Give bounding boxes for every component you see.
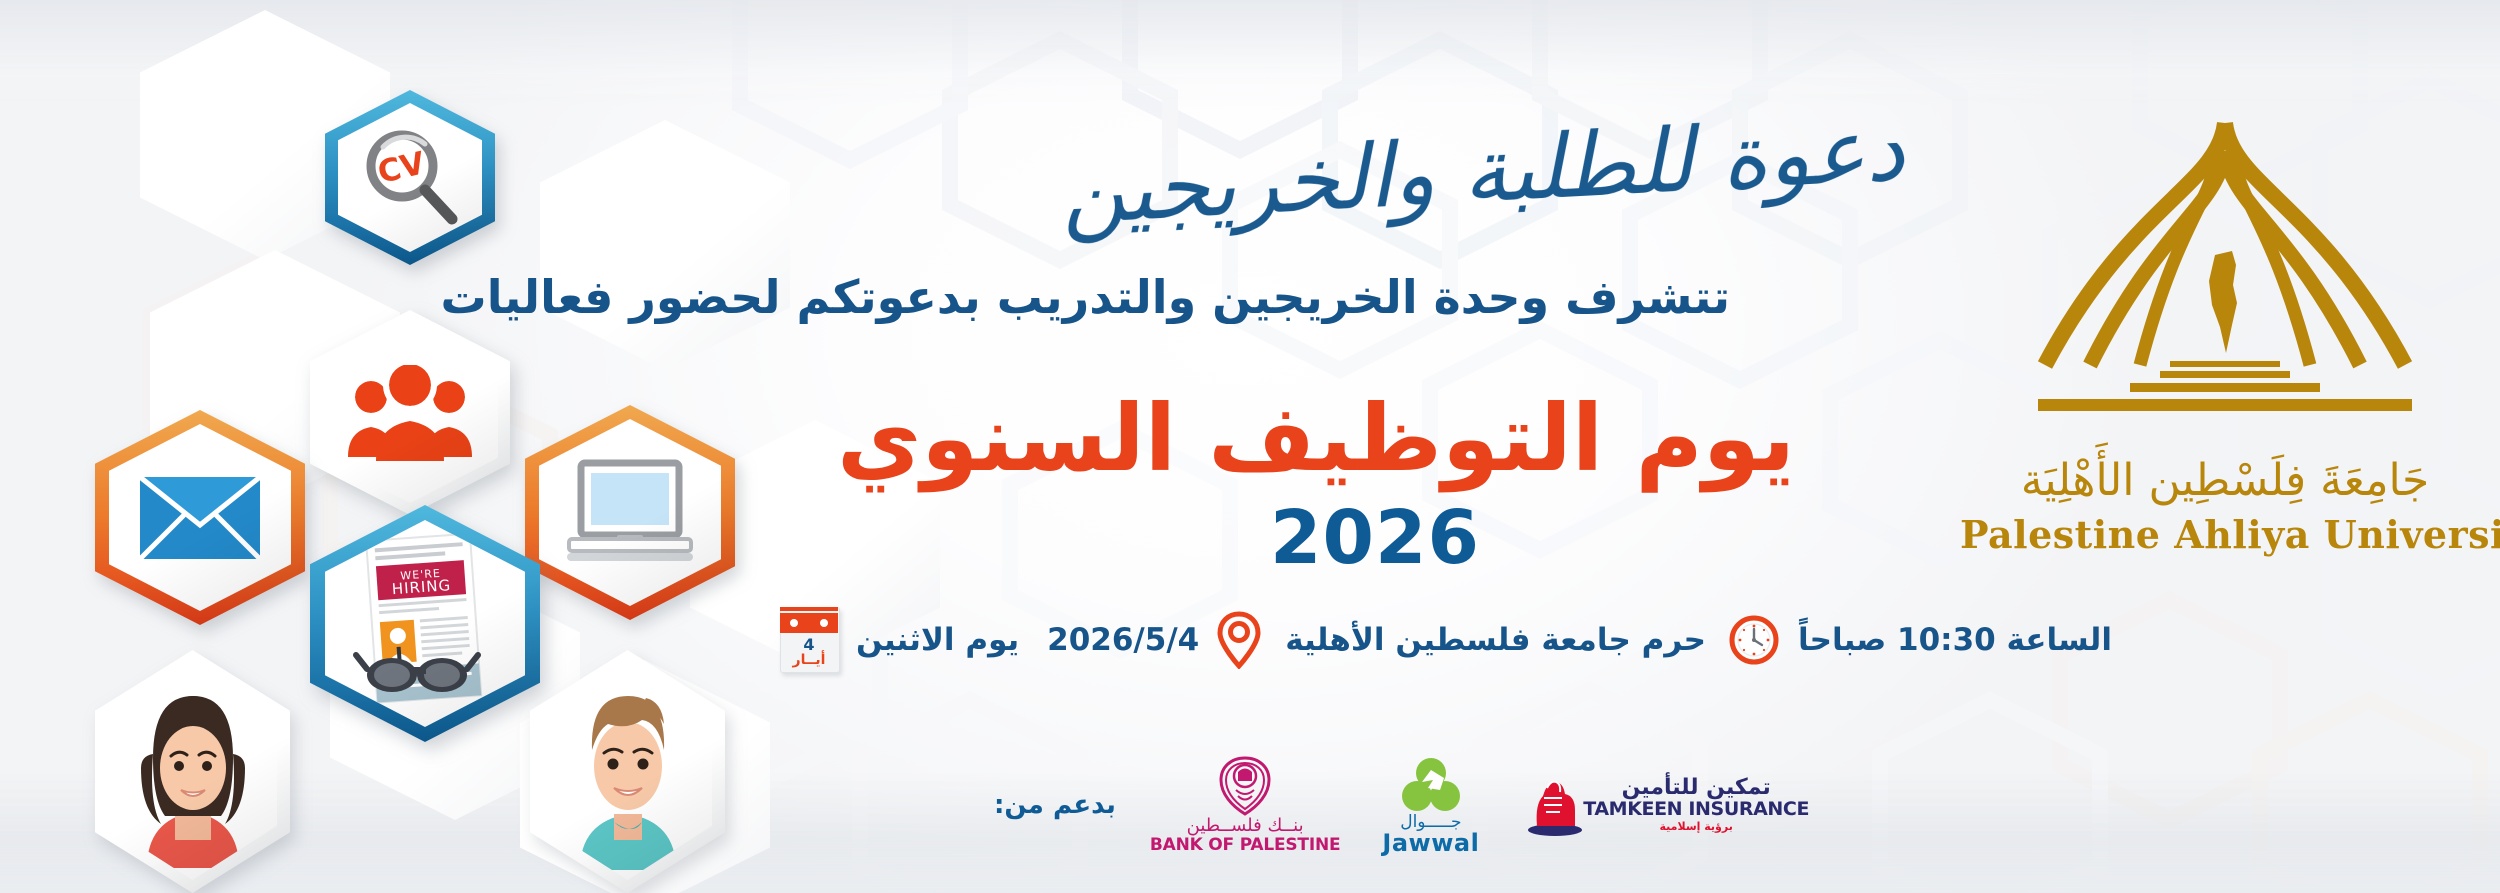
event-time: الساعة 10:30 صباحاً bbox=[1798, 622, 2112, 658]
tamkeen-english-name: TAMKEEN INSURANCE bbox=[1583, 799, 1809, 820]
hex-shading bbox=[95, 650, 290, 893]
event-year: 2026 bbox=[955, 495, 1795, 581]
calligraphy-headline: دعوة للطلبة والخريجين bbox=[1059, 105, 1907, 237]
map-pin-icon bbox=[1217, 611, 1261, 669]
calendar-month-label: أيــار bbox=[780, 652, 838, 668]
bop-arabic-name: بنــك فلســطين bbox=[1187, 816, 1304, 836]
sponsors-label: بدعم من: bbox=[994, 790, 1116, 820]
bop-crest-icon bbox=[1214, 756, 1276, 816]
hex-shading bbox=[530, 650, 725, 893]
raised-fist-icon bbox=[1527, 774, 1583, 836]
hex-laptop bbox=[525, 405, 735, 620]
event-date-value: 2026/5/4 bbox=[1047, 622, 1199, 658]
hex-avatar-woman bbox=[95, 650, 290, 893]
tamkeen-insurance-logo: تمكين للتأمين TAMKEEN INSURANCE برؤية إس… bbox=[1519, 774, 1809, 836]
tamkeen-tagline: برؤية إسلامية bbox=[1660, 820, 1733, 833]
event-date-day: يوم الاثنين bbox=[856, 622, 1019, 658]
dome-with-palestine-map-icon bbox=[2010, 115, 2440, 455]
hex-shading bbox=[325, 90, 495, 265]
calendar-icon: 4 أيــار bbox=[778, 607, 840, 673]
university-logo: جَامِعَةَ فِلَسْطِين الأَهْلِيَة Palesti… bbox=[1960, 115, 2490, 557]
employment-day-banner: CV bbox=[0, 0, 2500, 893]
clock-icon bbox=[1728, 614, 1780, 666]
jawwal-english-name: Jawwal bbox=[1382, 831, 1479, 855]
hex-shading bbox=[95, 410, 305, 625]
hex-envelope bbox=[95, 410, 305, 625]
hex-shading bbox=[525, 405, 735, 620]
hex-shading bbox=[310, 505, 540, 742]
hex-people bbox=[310, 310, 510, 515]
hex-avatar-man bbox=[530, 650, 725, 893]
university-arabic-name: جَامِعَةَ فِلَسْطِين الأَهْلِيَة bbox=[1960, 455, 2490, 506]
event-venue: حرم جامعة فلسطين الأهلية bbox=[1285, 622, 1706, 658]
decorative-hexagon-tile bbox=[540, 120, 790, 370]
jawwal-logo: جـــــوال Jawwal bbox=[1382, 756, 1479, 855]
bank-of-palestine-logo: بنــك فلســطين BANK OF PALESTINE bbox=[1150, 756, 1341, 854]
page-title: يوم التوظيف السنوي bbox=[955, 385, 1795, 492]
jawwal-arabic-name: جـــــوال bbox=[1400, 814, 1461, 831]
sponsors-row: بدعم من: بنــك فلســطين BANK OF PALESTIN… bbox=[960, 755, 1720, 855]
hex-cv-search: CV bbox=[325, 90, 495, 265]
tamkeen-arabic-name: تمكين للتأمين bbox=[1622, 777, 1771, 799]
hex-shading bbox=[310, 310, 510, 515]
subtitle-line: تتشرف وحدة الخريجين والتدريب بدعوتكم لحض… bbox=[780, 270, 1730, 324]
hex-hiring-ad: WE'RE HIRING bbox=[310, 505, 540, 742]
university-english-name: Palestine Ahliya University bbox=[1960, 512, 2490, 557]
event-details-row: 4 أيــار يوم الاثنين 2026/5/4 حرم جامعة … bbox=[760, 605, 1930, 675]
jawwal-trefoil-icon bbox=[1400, 756, 1462, 814]
bop-english-name: BANK OF PALESTINE bbox=[1150, 836, 1341, 855]
